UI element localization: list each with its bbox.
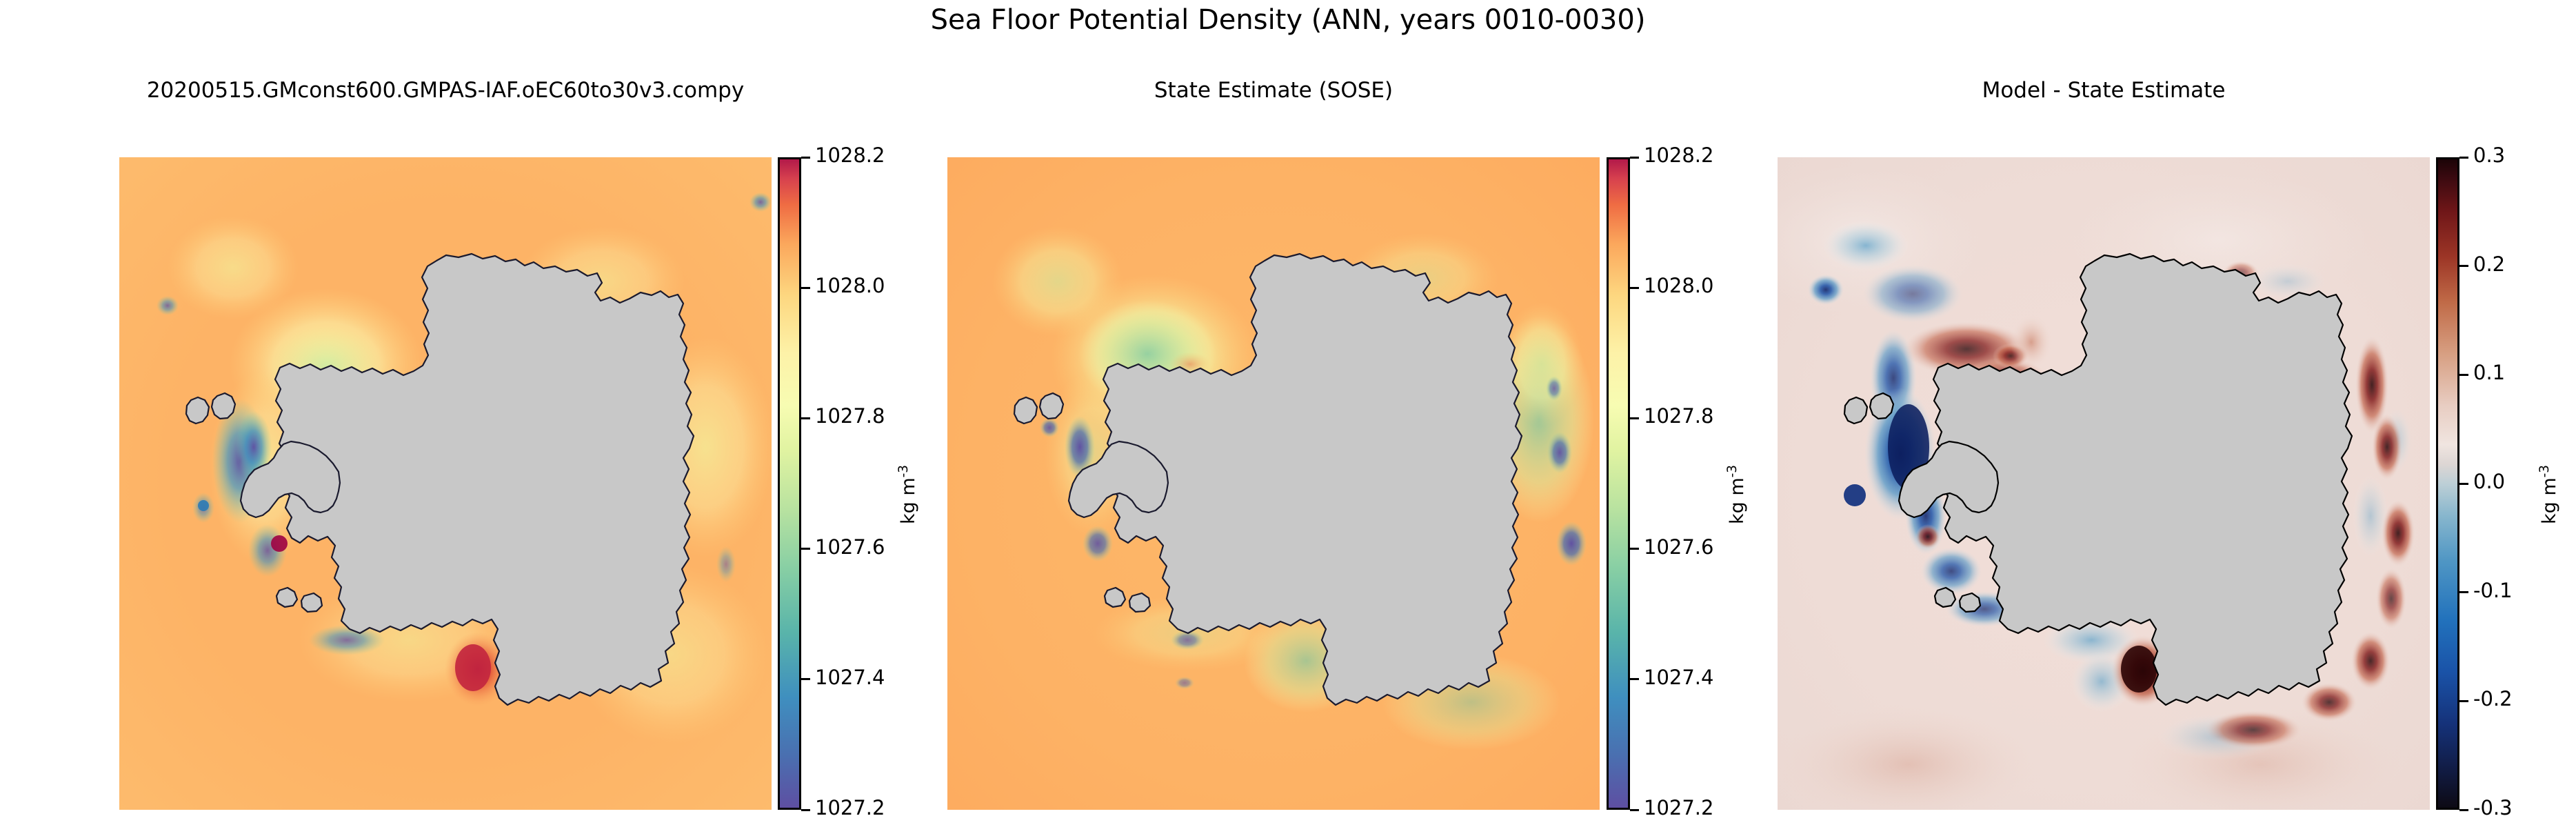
tick-mark	[801, 287, 810, 289]
colorbar-sose[interactable]	[1607, 157, 1630, 810]
tick-label: 0.3	[2473, 143, 2505, 167]
colorbar-unit-label-model: kg m-3	[896, 465, 919, 524]
figure-canvas: Sea Floor Potential Density (ANN, years …	[0, 0, 2576, 836]
tick-label: -0.2	[2473, 687, 2513, 710]
tick-mark	[801, 809, 810, 811]
antarctica-landmass-difference	[1778, 157, 2430, 810]
tick-label: 1028.2	[1644, 143, 1713, 167]
tick-mark	[801, 548, 810, 550]
tick-label: 1027.4	[1644, 666, 1713, 689]
tick-mark	[801, 417, 810, 419]
tick-label: 0.2	[2473, 252, 2505, 276]
unit-exponent: -3	[896, 465, 911, 477]
tick-mark	[2459, 483, 2468, 485]
tick-label: 1028.0	[1644, 274, 1713, 297]
tick-label: -0.3	[2473, 796, 2513, 819]
colorbar-ticks-model: 1027.2 1027.4 1027.6 1027.8 1028.0 1028.…	[801, 157, 905, 810]
figure-suptitle: Sea Floor Potential Density (ANN, years …	[0, 4, 2576, 36]
tick-mark	[801, 157, 810, 159]
map-panel-model[interactable]	[119, 157, 772, 810]
unit-text: kg m	[1727, 477, 1748, 524]
tick-mark	[1630, 809, 1639, 811]
colorbar-difference[interactable]	[2436, 157, 2459, 810]
antarctica-landmass-sose	[947, 157, 1600, 810]
tick-label: 1027.8	[815, 404, 885, 428]
tick-mark	[1630, 287, 1639, 289]
unit-exponent: -3	[1725, 465, 1740, 477]
tick-label: 1027.2	[1644, 796, 1713, 819]
panel-title-difference: Model - State Estimate	[1778, 78, 2430, 103]
tick-label: 0.0	[2473, 470, 2505, 493]
tick-mark	[1630, 417, 1639, 419]
map-inner-difference	[1778, 157, 2430, 810]
tick-label: 1027.8	[1644, 404, 1713, 428]
tick-mark	[801, 678, 810, 680]
tick-label: 1027.6	[1644, 535, 1713, 559]
tick-label: -0.1	[2473, 579, 2513, 602]
colorbar-model[interactable]	[778, 157, 801, 810]
colorbar-ticks-sose: 1027.2 1027.4 1027.6 1027.8 1028.0 1028.…	[1630, 157, 1733, 810]
tick-mark	[1630, 678, 1639, 680]
unit-text: kg m	[898, 477, 919, 524]
tick-label: 1027.2	[815, 796, 885, 819]
tick-mark	[2459, 374, 2468, 376]
tick-mark	[1630, 157, 1639, 159]
panel-title-model: 20200515.GMconst600.GMPAS-IAF.oEC60to30v…	[119, 78, 772, 103]
panel-title-sose: State Estimate (SOSE)	[947, 78, 1600, 103]
map-inner-model	[119, 157, 772, 810]
tick-mark	[1630, 548, 1639, 550]
map-panel-difference[interactable]	[1778, 157, 2430, 810]
tick-label: 1027.4	[815, 666, 885, 689]
map-inner-sose	[947, 157, 1600, 810]
unit-text: kg m	[2539, 477, 2560, 524]
tick-label: 1028.0	[815, 274, 885, 297]
unit-exponent: -3	[2537, 465, 2552, 477]
tick-mark	[2459, 700, 2468, 702]
antarctica-landmass-model	[119, 157, 772, 810]
map-panel-sose[interactable]	[947, 157, 1600, 810]
colorbar-unit-label-sose: kg m-3	[1725, 465, 1748, 524]
tick-mark	[2459, 157, 2468, 159]
tick-label: 1027.6	[815, 535, 885, 559]
tick-label: 1028.2	[815, 143, 885, 167]
colorbar-unit-label-difference: kg m-3	[2537, 465, 2560, 524]
tick-mark	[2459, 591, 2468, 593]
tick-mark	[2459, 265, 2468, 267]
tick-mark	[2459, 809, 2468, 811]
tick-label: 0.1	[2473, 361, 2505, 384]
